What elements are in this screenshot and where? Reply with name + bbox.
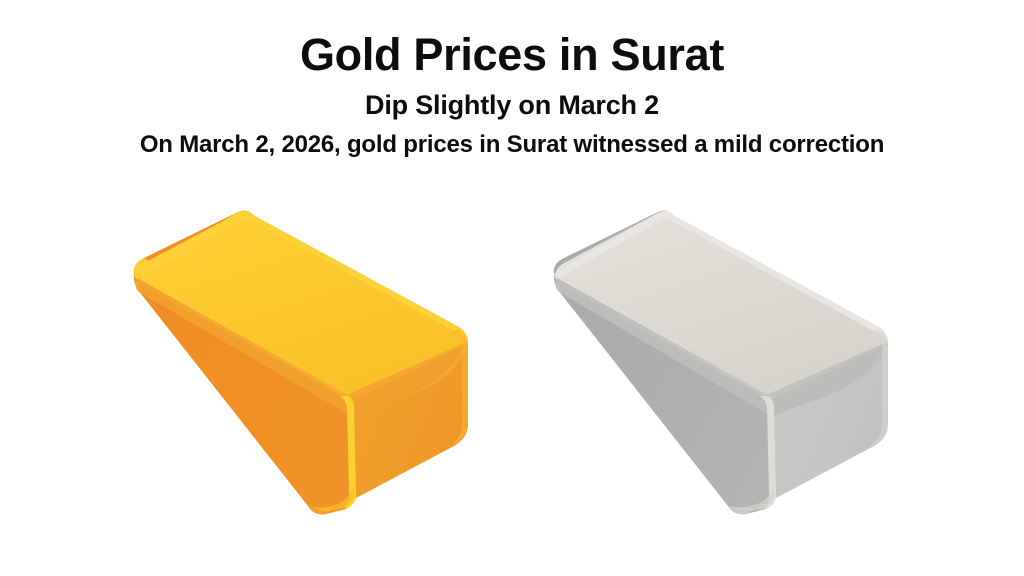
bars-illustration	[0, 196, 1024, 541]
poster-canvas: Gold Prices in Surat Dip Slightly on Mar…	[0, 0, 1024, 576]
page-lede: On March 2, 2026, gold prices in Surat w…	[0, 131, 1024, 160]
gold-bar-body	[134, 211, 468, 515]
page-subtitle: Dip Slightly on March 2	[0, 89, 1024, 121]
page-title: Gold Prices in Surat	[0, 30, 1024, 80]
silver-bar-illustration	[538, 196, 908, 536]
silver-bar-body	[554, 211, 888, 515]
headline-block: Gold Prices in Surat Dip Slightly on Mar…	[0, 30, 1024, 160]
gold-bar-illustration	[118, 196, 488, 536]
